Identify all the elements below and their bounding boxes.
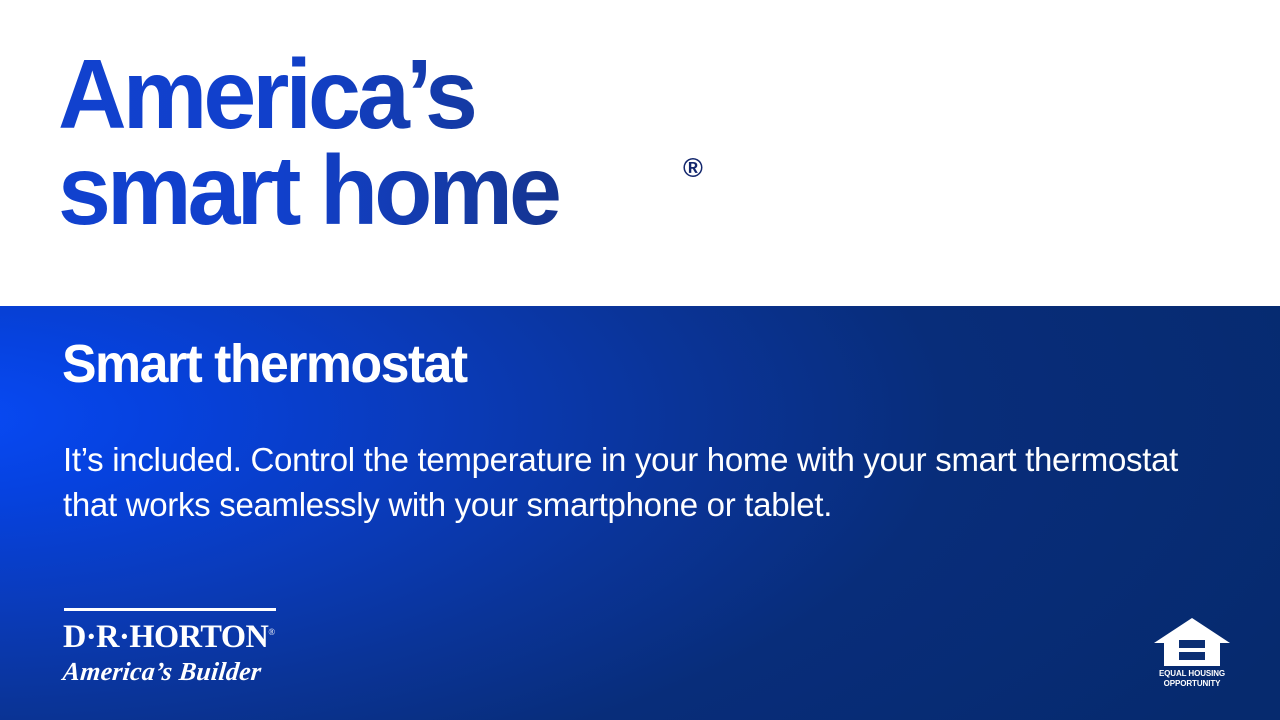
page-title: Smart thermostat xyxy=(62,334,467,394)
slide-canvas: America’s smart home ® Smart thermostat … xyxy=(0,0,1280,720)
dr-horton-logo: D·R·HORTON® America’s Builder xyxy=(63,608,288,686)
dr-horton-wordmark: D·R·HORTON® xyxy=(63,616,284,654)
dr-horton-tagline: America’s Builder xyxy=(62,658,288,686)
equal-housing-house-icon xyxy=(1152,616,1232,668)
equal-housing-line-2: OPPORTUNITY xyxy=(1152,679,1232,689)
dr-horton-registered-icon: ® xyxy=(268,627,275,637)
dr-horton-name-text: D·R·HORTON xyxy=(63,619,268,655)
equal-housing-opportunity-logo: EQUAL HOUSING OPPORTUNITY xyxy=(1152,616,1232,688)
equal-housing-text: EQUAL HOUSING OPPORTUNITY xyxy=(1152,669,1232,688)
logo-divider-rule xyxy=(64,608,276,611)
feature-description: It’s included. Control the temperature i… xyxy=(63,437,1223,527)
feature-band-content: Smart thermostat It’s included. Control … xyxy=(0,0,1280,720)
equal-housing-line-1: EQUAL HOUSING xyxy=(1152,669,1232,679)
